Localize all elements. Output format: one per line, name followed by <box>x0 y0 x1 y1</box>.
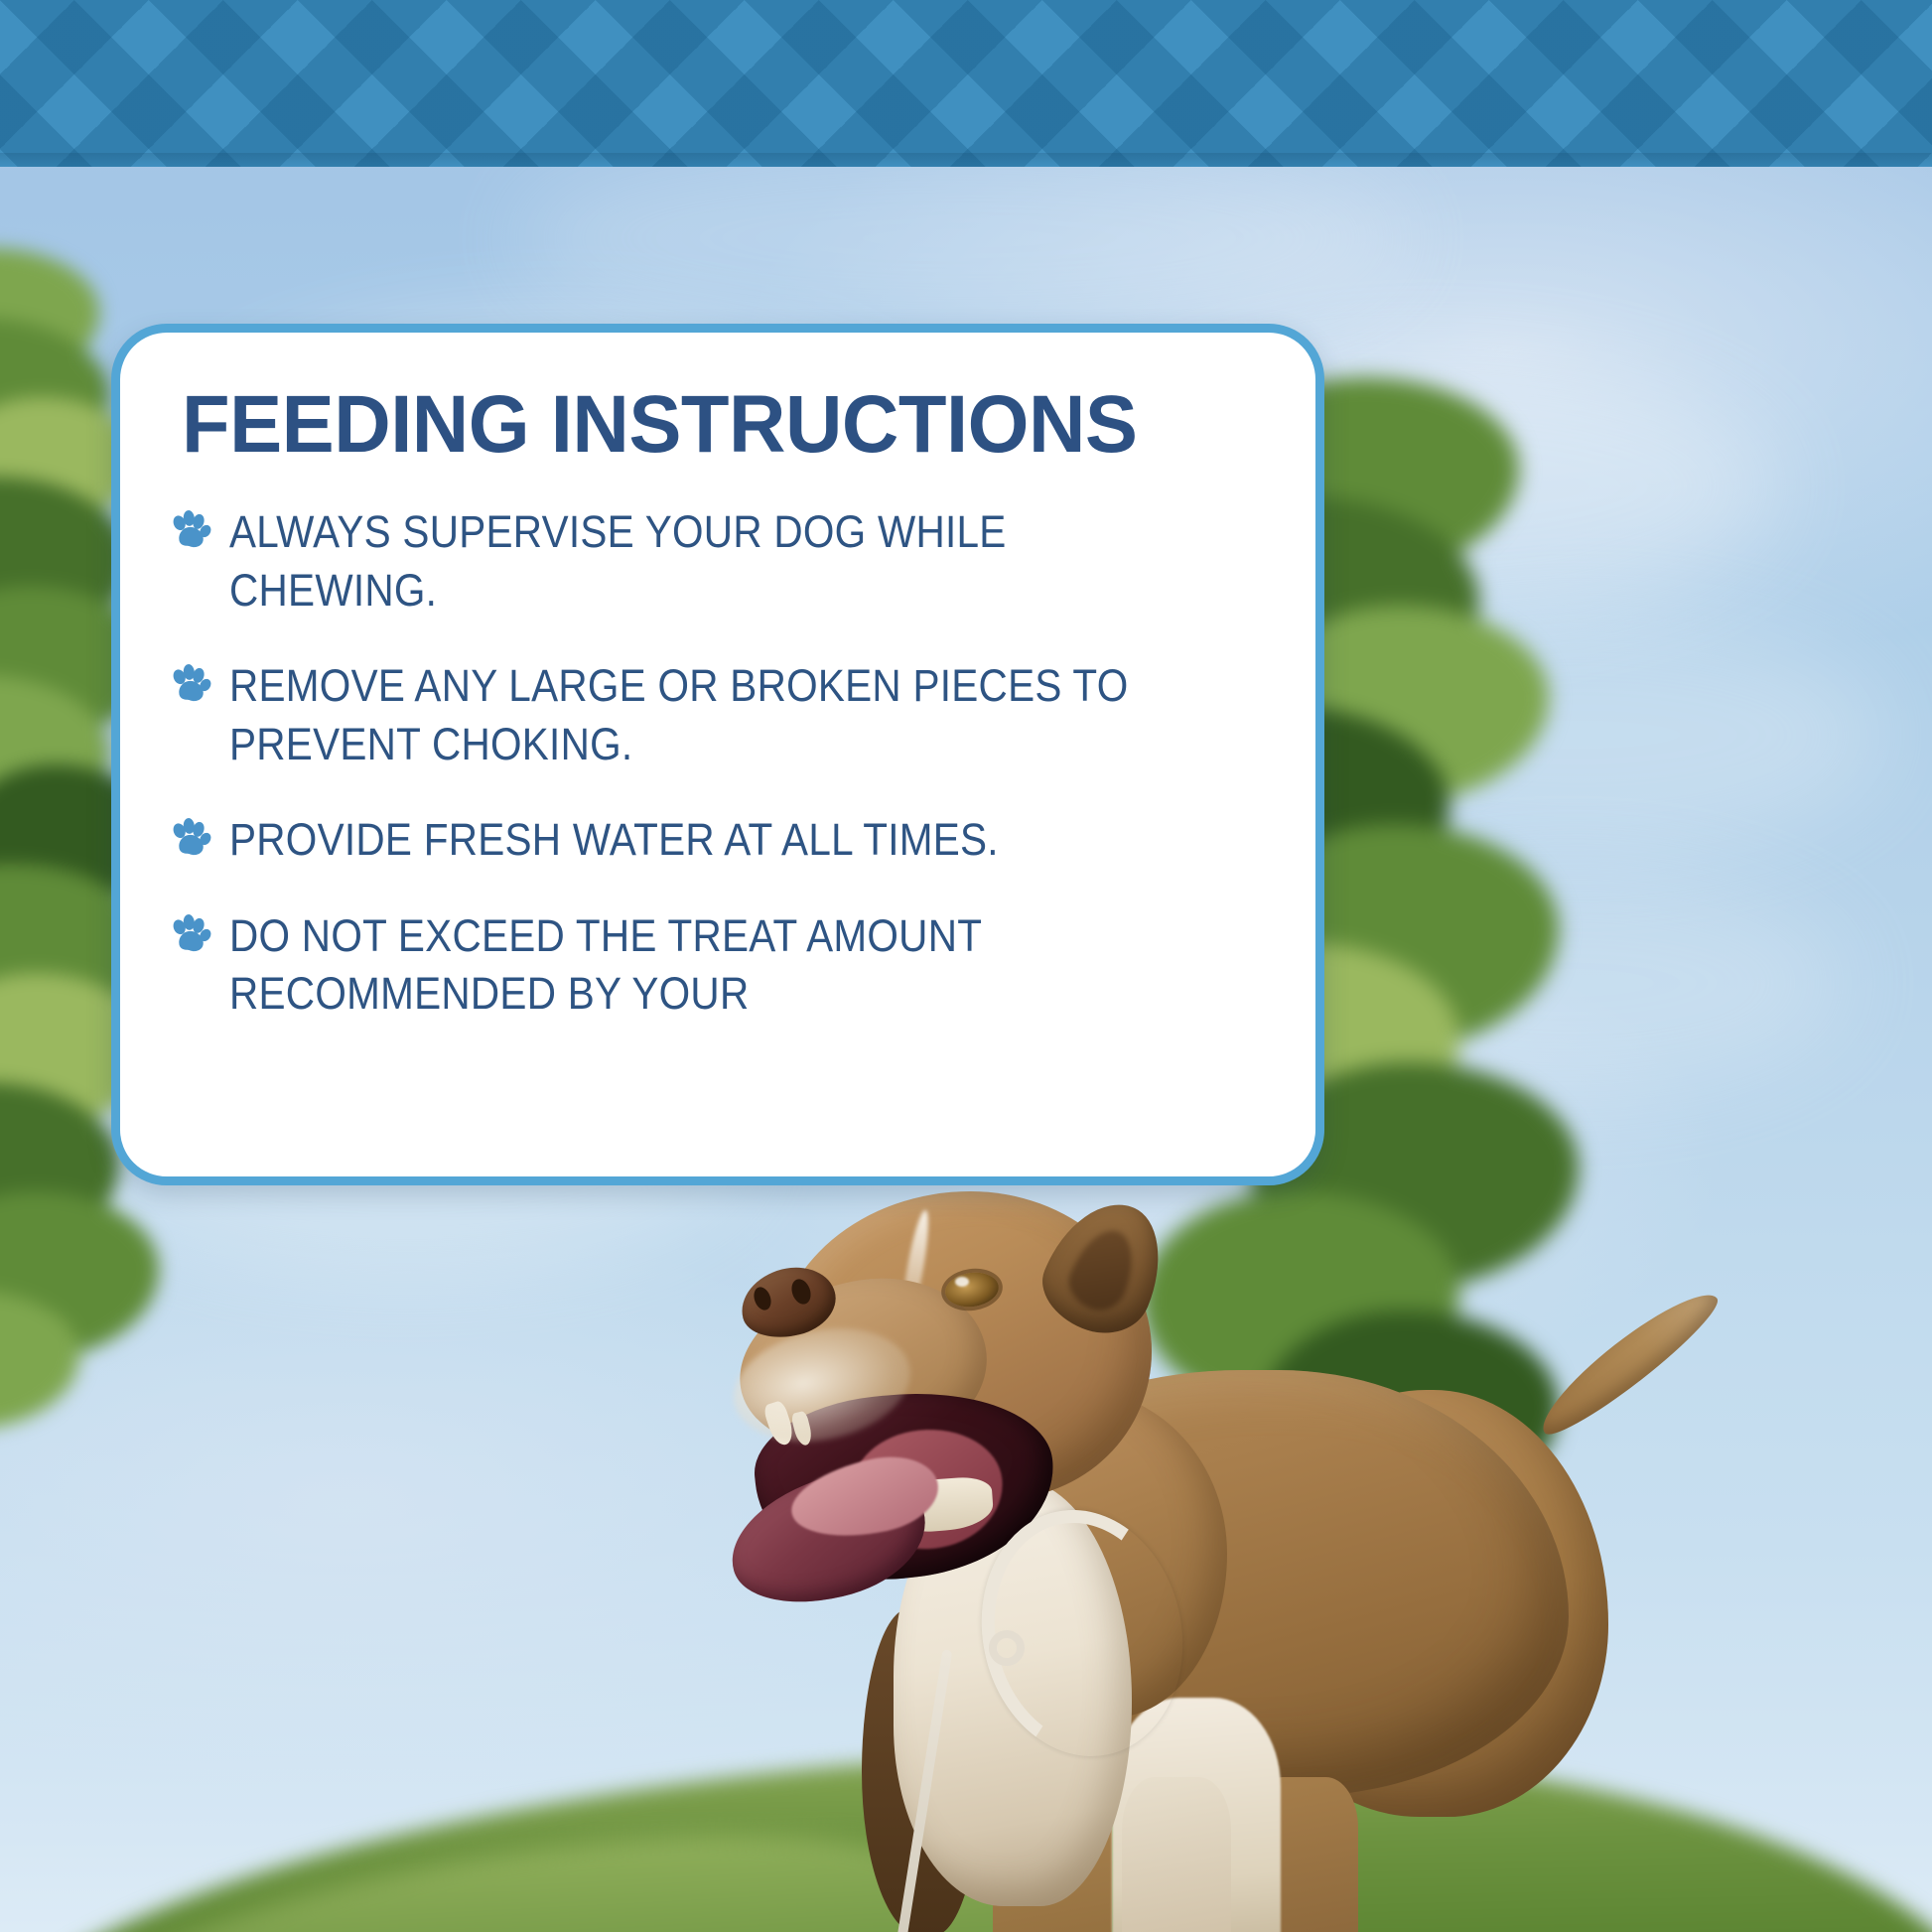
list-item-label: ALWAYS SUPERVISE YOUR DOG WHILE CHEWING. <box>229 503 1154 620</box>
list-item-label: DO NOT EXCEED THE TREAT AMOUNT RECOMMEND… <box>229 907 1154 1024</box>
paw-print-icon <box>168 913 211 957</box>
banner-bottom-shadow <box>0 153 1932 167</box>
list-item: REMOVE ANY LARGE OR BROKEN PIECES TO PRE… <box>168 657 1256 773</box>
gingham-plaid-banner <box>0 0 1932 167</box>
list-item: DO NOT EXCEED THE TREAT AMOUNT RECOMMEND… <box>168 907 1256 1024</box>
paw-print-icon <box>168 817 211 861</box>
list-item: ALWAYS SUPERVISE YOUR DOG WHILE CHEWING. <box>168 503 1256 620</box>
instructions-list: ALWAYS SUPERVISE YOUR DOG WHILE CHEWING. <box>168 503 1256 1024</box>
page-title: FEEDING INSTRUCTIONS <box>182 384 1224 466</box>
list-item: PROVIDE FRESH WATER AT ALL TIMES. <box>168 811 1256 870</box>
paw-print-icon <box>168 663 211 707</box>
list-item-label: PROVIDE FRESH WATER AT ALL TIMES. <box>229 811 1154 870</box>
paw-print-icon <box>168 509 211 553</box>
dog-photo-subject <box>695 1181 1668 1932</box>
poster-canvas: FEEDING INSTRUCTIONS <box>0 0 1932 1932</box>
list-item-label: REMOVE ANY LARGE OR BROKEN PIECES TO PRE… <box>229 657 1154 773</box>
feeding-instructions-card: FEEDING INSTRUCTIONS <box>111 324 1324 1185</box>
cloud <box>516 139 1410 338</box>
